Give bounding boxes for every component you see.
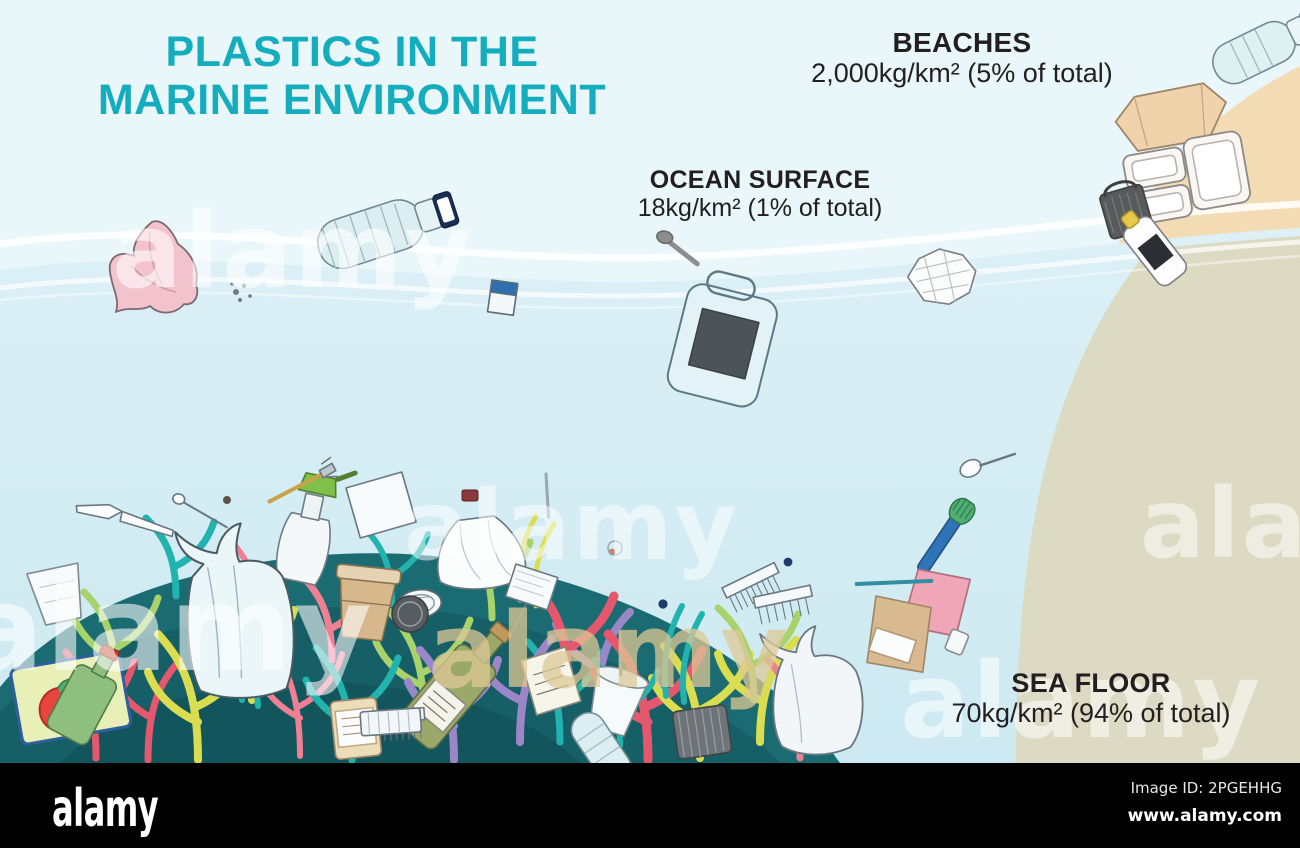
debris-tin-lid — [392, 596, 428, 632]
website-link[interactable]: www.alamy.com — [1128, 806, 1282, 826]
debris-tin-can — [672, 704, 732, 759]
callout-sea-floor: SEA FLOOR 70kg/km² (94% of total) — [905, 668, 1277, 728]
callout-beaches-title: BEACHES — [764, 27, 1160, 58]
alamy-logo[interactable]: alamy — [52, 779, 158, 839]
callout-sea-floor-value: 70kg/km² (94% of total) — [905, 698, 1277, 728]
callout-sea-floor-title: SEA FLOOR — [905, 668, 1277, 698]
callout-ocean-surface-value: 18kg/km² (1% of total) — [577, 194, 943, 222]
footer-meta: Image ID: 2PGEHHG www.alamy.com — [1128, 779, 1282, 826]
debris-juice-carton — [488, 280, 518, 315]
callout-ocean-surface-title: OCEAN SURFACE — [577, 166, 943, 194]
callout-beaches-value: 2,000kg/km² (5% of total) — [764, 58, 1160, 88]
infographic-root: alamy alamy alamy alamy alamy alamy PLAS… — [0, 0, 1300, 848]
image-id-text: Image ID: 2PGEHHG — [1128, 779, 1282, 797]
debris-pill-blister — [360, 708, 422, 736]
page-title-line-1: PLASTICS IN THE — [165, 28, 538, 76]
callout-beaches: BEACHES 2,000kg/km² (5% of total) — [764, 27, 1160, 89]
illustration-canvas: alamy alamy alamy alamy alamy alamy PLAS… — [0, 0, 1300, 763]
page-title: PLASTICS IN THE MARINE ENVIRONMENT — [92, 28, 612, 124]
alamy-footer-bar: alamy Image ID: 2PGEHHG www.alamy.com — [0, 763, 1300, 848]
callout-ocean-surface: OCEAN SURFACE 18kg/km² (1% of total) — [577, 166, 943, 222]
page-title-line-2: MARINE ENVIRONMENT — [92, 76, 612, 124]
